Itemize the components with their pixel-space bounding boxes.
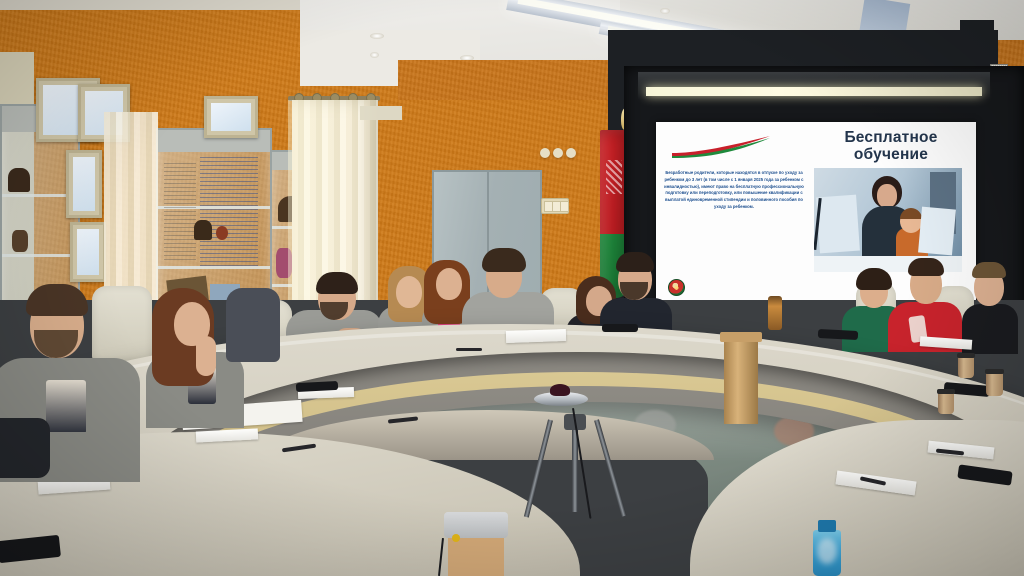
bottle-cap <box>818 520 836 532</box>
display-poster <box>164 160 196 260</box>
coffee-cup[interactable] <box>958 356 974 378</box>
smartphone[interactable] <box>602 324 638 332</box>
wall-circle-light-icon <box>566 148 576 158</box>
wall-circle-light-icon <box>540 148 550 158</box>
display-figurine <box>194 220 212 240</box>
slide-title: Бесплатное обучение <box>816 130 966 163</box>
coffee-cup[interactable] <box>986 372 1003 396</box>
wooden-pedestal <box>724 338 758 424</box>
display-figurine <box>216 226 228 240</box>
camera-lens-dome-icon <box>550 384 570 396</box>
light-switch-panel[interactable] <box>541 198 569 214</box>
flag-ornament-pattern <box>606 160 622 194</box>
display-figurine <box>12 230 28 252</box>
wooden-pedestal-top <box>720 332 762 342</box>
downlight-icon <box>660 8 670 14</box>
display-poster <box>200 156 258 266</box>
framed-certificate <box>204 96 258 138</box>
slide-body-text: Безработные родители, которые находятся … <box>664 170 804 211</box>
hand-on-chin <box>196 336 216 376</box>
wall-orange-upper-center <box>398 60 630 100</box>
meeting-room-photo: Бесплатное обучение Безработные родители… <box>0 0 1024 576</box>
framed-certificate <box>66 150 102 218</box>
wall-circle-light-icon <box>553 148 563 158</box>
water-bottle[interactable] <box>813 530 841 576</box>
bag <box>0 418 50 478</box>
tshirt-graphic <box>46 380 86 434</box>
coffee-cup[interactable] <box>938 392 954 414</box>
downlight-icon <box>370 52 379 58</box>
downlight-icon <box>370 33 384 39</box>
thermos-bottle[interactable] <box>768 296 782 330</box>
document-papers[interactable] <box>506 329 566 343</box>
screen-top-lightbar <box>638 72 990 100</box>
display-figurine <box>8 168 30 192</box>
pen[interactable] <box>456 348 482 351</box>
framed-certificate <box>70 222 106 282</box>
slide-photo <box>814 168 962 272</box>
jacket-on-chair <box>226 288 280 362</box>
belarus-flag-ribbon-icon <box>670 134 774 158</box>
microphone-indicator-icon <box>452 534 460 542</box>
